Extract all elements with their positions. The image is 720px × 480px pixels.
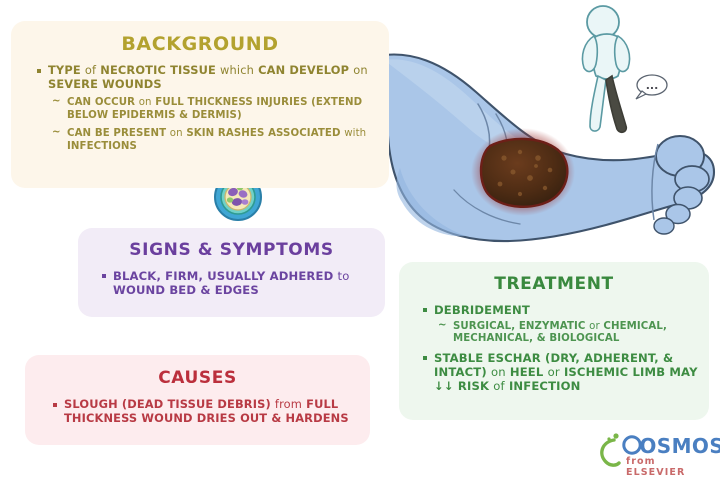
figure-head bbox=[587, 6, 619, 38]
causes-title: CAUSES bbox=[25, 355, 370, 388]
causes-bullet-1: SLOUGH (DEAD TISSUE DEBRIS) from FULL TH… bbox=[51, 398, 356, 426]
distressed-patient-figure: ... bbox=[556, 2, 676, 142]
speech-bubble-text: ... bbox=[646, 79, 659, 92]
card-signs-symptoms: SIGNS & SYMPTOMS BLACK, FIRM, USUALLY AD… bbox=[78, 228, 385, 317]
background-bullet-list: TYPE of NECROTIC TISSUE which CAN DEVELO… bbox=[11, 64, 389, 154]
figure-leg-right-necrotic bbox=[606, 76, 626, 132]
background-bullet-2-text: CAN OCCUR on FULL THICKNESS INJURIES (EX… bbox=[67, 97, 362, 121]
card-treatment: TREATMENT DEBRIDEMENT SURGICAL, ENZYMATI… bbox=[399, 262, 709, 420]
osmosis-wordmark-text: OSMOSIS bbox=[639, 434, 720, 458]
signs-title: SIGNS & SYMPTOMS bbox=[78, 228, 385, 260]
background-bullet-3: CAN BE PRESENT on SKIN RASHES ASSOCIATED… bbox=[52, 128, 377, 153]
stick-figure-svg: ... bbox=[556, 2, 676, 142]
signs-bullet-list: BLACK, FIRM, USUALLY ADHERED to WOUND BE… bbox=[78, 269, 385, 297]
background-bullet-1: TYPE of NECROTIC TISSUE which CAN DEVELO… bbox=[35, 64, 377, 91]
treatment-bullet-3: STABLE ESCHAR (DRY, ADHERENT, & INTACT) … bbox=[421, 351, 699, 393]
osmosis-wordmark: OOSMOSIS bbox=[624, 434, 720, 458]
infographic-canvas: ... BACKGROUND TYPE of NECROTIC TISSUE w… bbox=[0, 0, 720, 480]
treatment-bullet-3-text: STABLE ESCHAR (DRY, ADHERENT, & INTACT) … bbox=[434, 351, 698, 393]
treatment-bullet-1: DEBRIDEMENT bbox=[421, 303, 699, 317]
treatment-bullet-1-text: DEBRIDEMENT bbox=[434, 303, 530, 317]
figure-leg-left bbox=[590, 76, 606, 131]
logo-dot-small bbox=[607, 437, 610, 440]
signs-bullet-1: BLACK, FIRM, USUALLY ADHERED to WOUND BE… bbox=[100, 269, 369, 297]
background-bullet-2: CAN OCCUR on FULL THICKNESS INJURIES (EX… bbox=[52, 97, 377, 122]
speech-bubble-tail bbox=[636, 91, 646, 99]
speech-bubble: ... bbox=[636, 75, 667, 99]
figure-arm-left bbox=[582, 36, 597, 71]
card-causes: CAUSES SLOUGH (DEAD TISSUE DEBRIS) from … bbox=[25, 355, 370, 445]
wound-eschar-plaque bbox=[481, 139, 567, 207]
toe-5 bbox=[654, 218, 674, 234]
figure-arm-right bbox=[615, 36, 630, 71]
treatment-bullet-2-text: SURGICAL, ENZYMATIC or CHEMICAL, MECHANI… bbox=[453, 321, 667, 344]
background-bullet-1-text: TYPE of NECROTIC TISSUE which CAN DEVELO… bbox=[48, 63, 368, 91]
treatment-title: TREATMENT bbox=[399, 262, 709, 294]
osmosis-subtitle: from ELSEVIER bbox=[626, 456, 708, 478]
card-background: BACKGROUND TYPE of NECROTIC TISSUE which… bbox=[11, 21, 389, 188]
logo-dot-large bbox=[613, 433, 618, 438]
treatment-bullet-2: SURGICAL, ENZYMATIC or CHEMICAL, MECHANI… bbox=[438, 321, 699, 346]
signs-bullet-1-text: BLACK, FIRM, USUALLY ADHERED to WOUND BE… bbox=[113, 269, 350, 297]
background-bullet-3-text: CAN BE PRESENT on SKIN RASHES ASSOCIATED… bbox=[67, 128, 366, 152]
causes-bullet-1-text: SLOUGH (DEAD TISSUE DEBRIS) from FULL TH… bbox=[64, 397, 349, 425]
background-title: BACKGROUND bbox=[11, 21, 389, 55]
causes-bullet-list: SLOUGH (DEAD TISSUE DEBRIS) from FULL TH… bbox=[25, 398, 370, 426]
treatment-bullet-list: DEBRIDEMENT SURGICAL, ENZYMATIC or CHEMI… bbox=[399, 303, 709, 393]
osmosis-logo[interactable]: OOSMOSIS from ELSEVIER bbox=[592, 430, 708, 474]
logo-arc-icon bbox=[602, 440, 619, 465]
